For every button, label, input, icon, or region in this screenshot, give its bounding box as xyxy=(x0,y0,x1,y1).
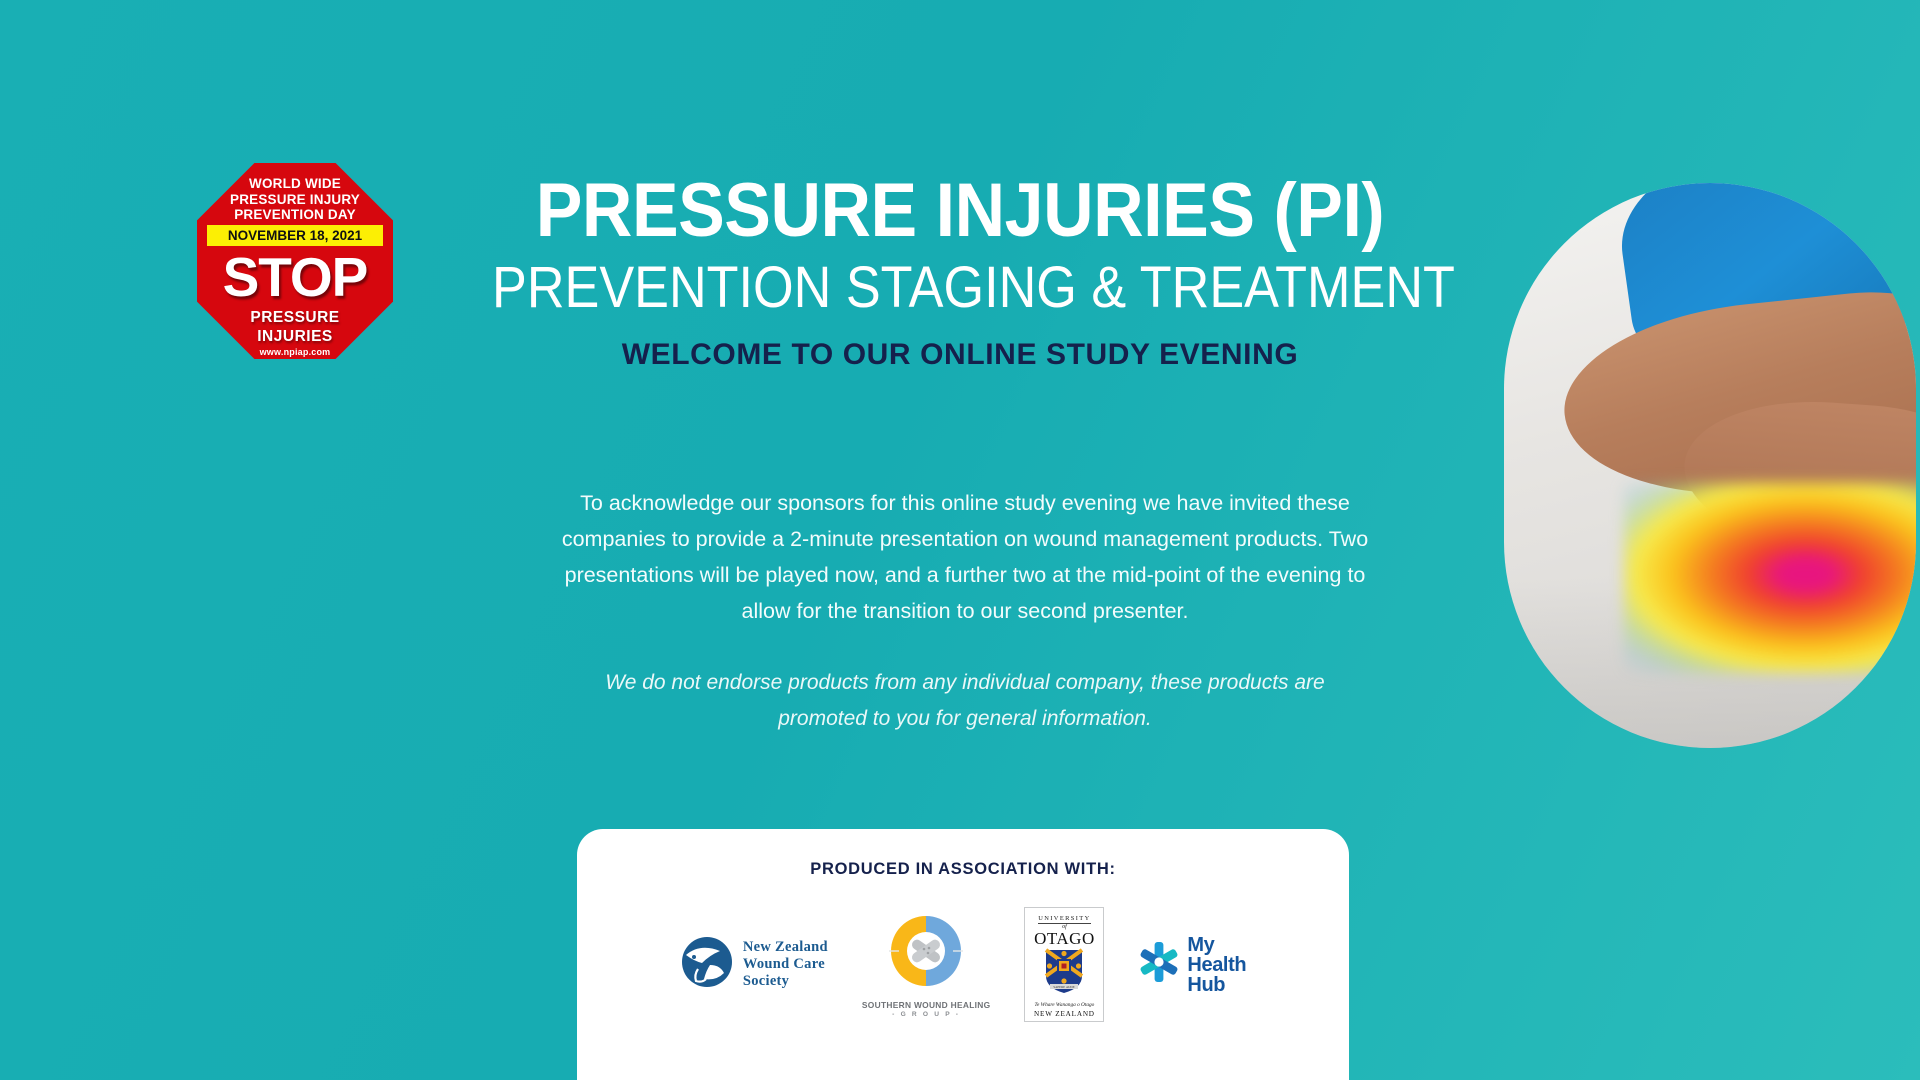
sponsor-paragraph: To acknowledge our sponsors for this onl… xyxy=(560,485,1370,629)
otago-name: OTAGO xyxy=(1034,930,1095,948)
my-health-hub-wordmark: My Health Hub xyxy=(1187,935,1246,995)
svg-text:SAPERE AUDE: SAPERE AUDE xyxy=(1054,985,1075,989)
stop-logo-line-2: PRESSURE INJURY xyxy=(197,192,393,208)
sponsor-logo-row: New Zealand Wound Care Society xyxy=(577,907,1349,1022)
stop-logo-line-1: WORLD WIDE xyxy=(197,176,393,192)
page-title: PRESSURE INJURIES (PI) xyxy=(482,170,1439,252)
stop-logo-date-banner: NOVEMBER 18, 2021 xyxy=(207,225,383,246)
swh-tagline: - G R O U P - xyxy=(892,1011,960,1018)
endorsement-disclaimer: We do not endorse products from any indi… xyxy=(560,665,1370,737)
logo-southern-wound-healing-group[interactable]: SOUTHERN WOUND HEALING - G R O U P - xyxy=(862,912,991,1018)
stop-logo-stop-word: STOP xyxy=(197,246,393,308)
otago-university-word: UNIVERSITY xyxy=(1038,915,1090,924)
nzwcs-line-2: Wound Care xyxy=(743,956,828,973)
mhh-line-3: Hub xyxy=(1187,975,1246,995)
nzwcs-line-1: New Zealand xyxy=(743,939,828,956)
npiap-stop-sign-logo: WORLD WIDE PRESSURE INJURY PREVENTION DA… xyxy=(197,163,393,359)
medical-asterisk-icon xyxy=(1138,941,1180,988)
nzwcs-line-3: Society xyxy=(743,973,828,990)
otago-maori-name: Te Whare Wananga o Otago xyxy=(1035,1002,1095,1008)
logo-my-health-hub[interactable]: My Health Hub xyxy=(1138,935,1246,995)
bandage-donut-icon xyxy=(887,912,965,995)
swh-wordmark: SOUTHERN WOUND HEALING xyxy=(862,1000,991,1011)
stop-logo-bottom-text: PRESSURE INJURIES xyxy=(197,308,393,346)
logo-university-of-otago[interactable]: UNIVERSITY of OTAGO SA xyxy=(1024,907,1104,1022)
otago-crest-icon: SAPERE AUDE xyxy=(1044,948,1084,999)
logo-nz-wound-care-society[interactable]: New Zealand Wound Care Society xyxy=(680,935,828,994)
nzwcs-wordmark: New Zealand Wound Care Society xyxy=(743,939,828,990)
stop-logo-top-text: WORLD WIDE PRESSURE INJURY PREVENTION DA… xyxy=(197,176,393,223)
patient-pressure-injury-photo xyxy=(1504,183,1916,748)
stop-logo-url: www.npiap.com xyxy=(197,347,393,357)
sponsor-card: PRODUCED IN ASSOCIATION WITH: New Zealan… xyxy=(577,829,1349,1080)
thermal-heatmap-overlay xyxy=(1624,483,1916,673)
mhh-line-1: My xyxy=(1187,935,1246,955)
stop-logo-bottom-line-2: INJURIES xyxy=(197,327,393,346)
page-subtitle: PREVENTION STAGING & TREATMENT xyxy=(492,252,1428,324)
welcome-heading: WELCOME TO OUR ONLINE STUDY EVENING xyxy=(440,336,1480,374)
sponsor-card-heading: PRODUCED IN ASSOCIATION WITH: xyxy=(577,860,1349,879)
body-copy-block: To acknowledge our sponsors for this onl… xyxy=(560,485,1370,737)
slide-root: WORLD WIDE PRESSURE INJURY PREVENTION DA… xyxy=(0,0,1920,1080)
heading-block: PRESSURE INJURIES (PI) PREVENTION STAGIN… xyxy=(440,170,1480,374)
stop-logo-bottom-line-1: PRESSURE xyxy=(197,308,393,327)
stop-logo-line-3: PREVENTION DAY xyxy=(197,207,393,223)
kiwi-globe-icon xyxy=(680,935,734,994)
mhh-line-2: Health xyxy=(1187,955,1246,975)
otago-country: NEW ZEALAND xyxy=(1034,1010,1095,1018)
